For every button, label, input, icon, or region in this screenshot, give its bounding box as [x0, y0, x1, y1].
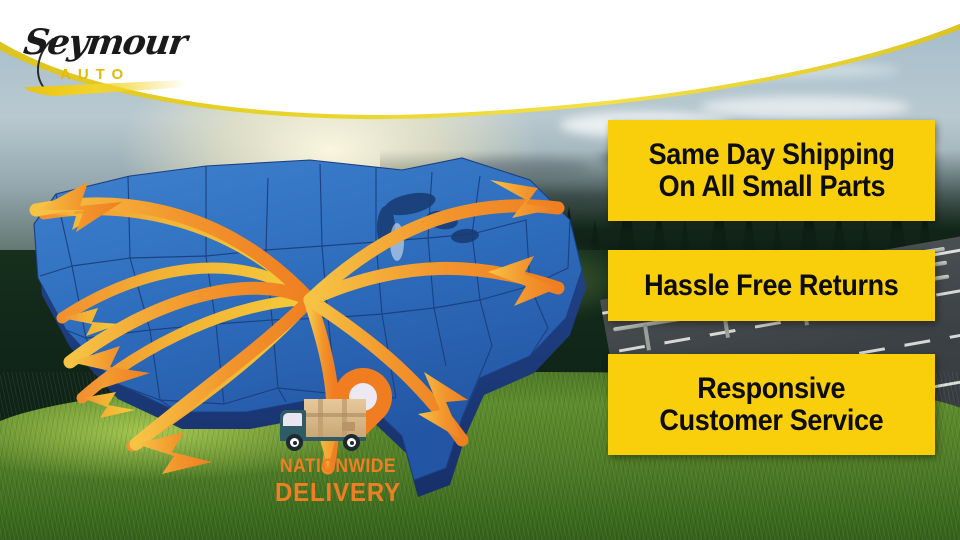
truck-wheel [343, 434, 360, 451]
brand-subtitle: AUTO [60, 66, 130, 83]
usa-map-graphic: NATIONWIDE DELIVERY [10, 150, 620, 510]
nationwide-delivery-badge: NATIONWIDE DELIVERY [272, 372, 422, 512]
claim-line: Same Day Shipping [649, 139, 895, 171]
claim-line: Responsive [698, 373, 846, 405]
claim-line: Customer Service [660, 405, 884, 437]
brand-name: Seymour [21, 22, 188, 63]
promo-banner: NATIONWIDE DELIVERY Seymour AUTO Same Da… [0, 0, 960, 540]
cardboard-box-icon [304, 399, 366, 437]
claim-box-hassle-free-returns[interactable]: Hassle Free Returns [608, 250, 935, 321]
claim-line: On All Small Parts [658, 171, 885, 203]
truck-window [283, 413, 302, 426]
truck-wheel [286, 434, 303, 451]
box-label-icon [342, 422, 355, 431]
claim-box-same-day-shipping[interactable]: Same Day Shipping On All Small Parts [608, 120, 935, 221]
claim-box-responsive-customer-service[interactable]: Responsive Customer Service [608, 354, 935, 455]
delivery-label: DELIVERY [274, 477, 403, 508]
nationwide-label: NATIONWIDE [274, 456, 403, 478]
brand-logo[interactable]: Seymour AUTO [18, 14, 208, 96]
cloud [700, 96, 910, 118]
claim-line: Hassle Free Returns [644, 270, 898, 302]
